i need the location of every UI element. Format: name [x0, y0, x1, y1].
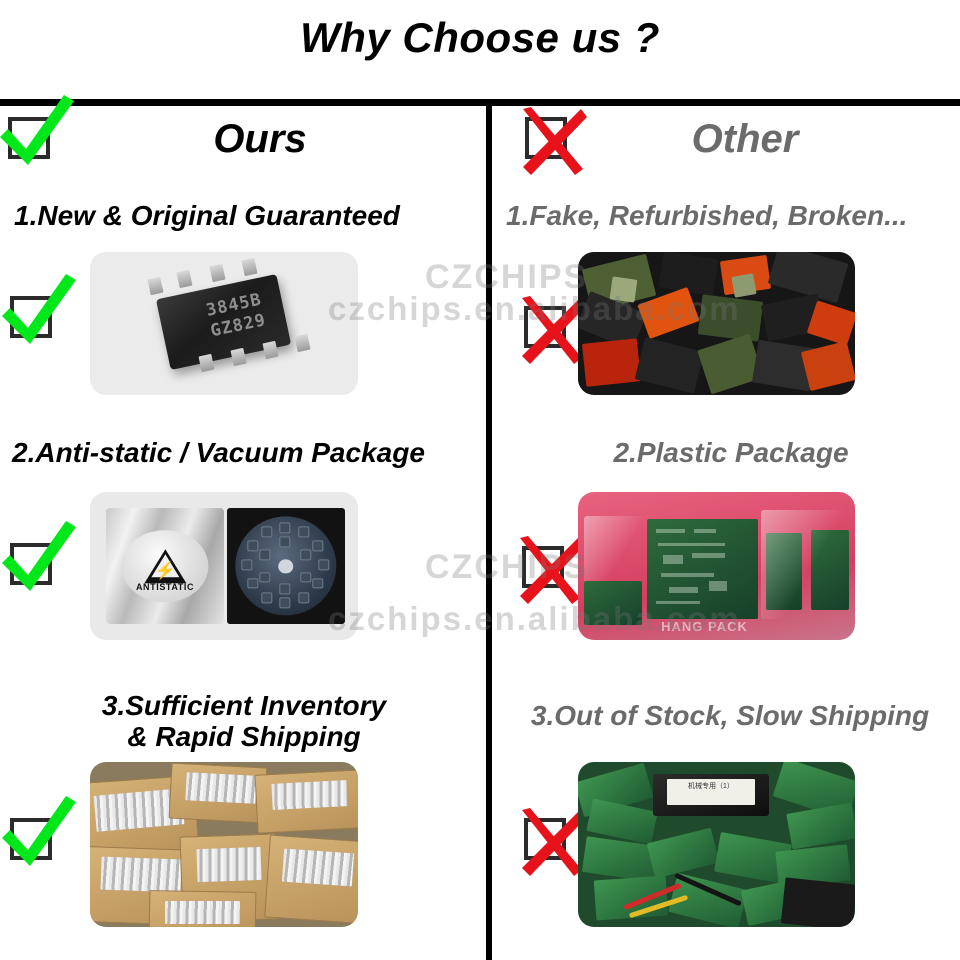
- comparison-infographic: Why Choose us ? Ours Other 1.New & Origi…: [0, 0, 960, 960]
- watermark-brand: CZCHIPS: [425, 258, 588, 297]
- x-mark-icon: [514, 536, 584, 606]
- row-1-check-mark-box: [10, 296, 52, 338]
- x-mark-icon: [516, 808, 586, 878]
- row-3-image-other: 机械专用（1）: [578, 762, 855, 927]
- check-mark-icon: [0, 272, 82, 350]
- row-1-label-ours: 1.New & Original Guaranteed: [14, 200, 474, 231]
- bag-print-text: HANG PACK: [661, 619, 748, 634]
- row-2-check-mark-box: [10, 543, 52, 585]
- column-heading-other: Other: [545, 108, 945, 170]
- row-2-label-other: 2.Plastic Package: [506, 437, 956, 468]
- row-1-image-other: [578, 252, 855, 395]
- page-title: Why Choose us ?: [0, 14, 960, 62]
- row-3-image-ours: [90, 762, 358, 927]
- module-label: 机械专用（1）: [667, 779, 755, 806]
- header-divider: [0, 99, 960, 106]
- row-1-x-mark-box: [524, 306, 566, 348]
- antistatic-label: ANTISTATIC: [121, 582, 208, 592]
- row-3-x-mark-box: [524, 818, 566, 860]
- antistatic-bag: ⚡ ANTISTATIC: [106, 508, 224, 623]
- row-2-image-other: HANG PACK: [578, 492, 855, 640]
- row-2-x-mark-box: [522, 546, 564, 588]
- row-1-image-ours: 3845B GZ829: [90, 252, 358, 395]
- row-3-label-other: 3.Out of Stock, Slow Shipping: [500, 700, 960, 731]
- labelled-black-module: 机械专用（1）: [653, 774, 769, 817]
- row-2-image-ours: ⚡ ANTISTATIC: [90, 492, 358, 640]
- component-reel-tray: [227, 508, 345, 623]
- row-3-label-ours-line1: 3.Sufficient Inventory: [14, 690, 474, 721]
- lightning-bolt-icon: ⚡: [154, 562, 175, 579]
- row-3-check-mark-box: [10, 818, 52, 860]
- check-mark-icon: [0, 794, 82, 872]
- circuit-board: [647, 519, 758, 620]
- x-mark-icon: [516, 296, 586, 366]
- check-mark-icon: [0, 519, 82, 597]
- header-check-mark-box: [8, 117, 50, 159]
- column-heading-ours: Ours: [60, 108, 460, 170]
- row-3-label-ours: 3.Sufficient Inventory & Rapid Shipping: [14, 690, 474, 753]
- column-divider: [486, 104, 492, 960]
- row-3-label-ours-line2: & Rapid Shipping: [14, 721, 474, 752]
- row-2-label-ours: 2.Anti-static / Vacuum Package: [12, 437, 482, 468]
- row-1-label-other: 1.Fake, Refurbished, Broken...: [506, 200, 956, 231]
